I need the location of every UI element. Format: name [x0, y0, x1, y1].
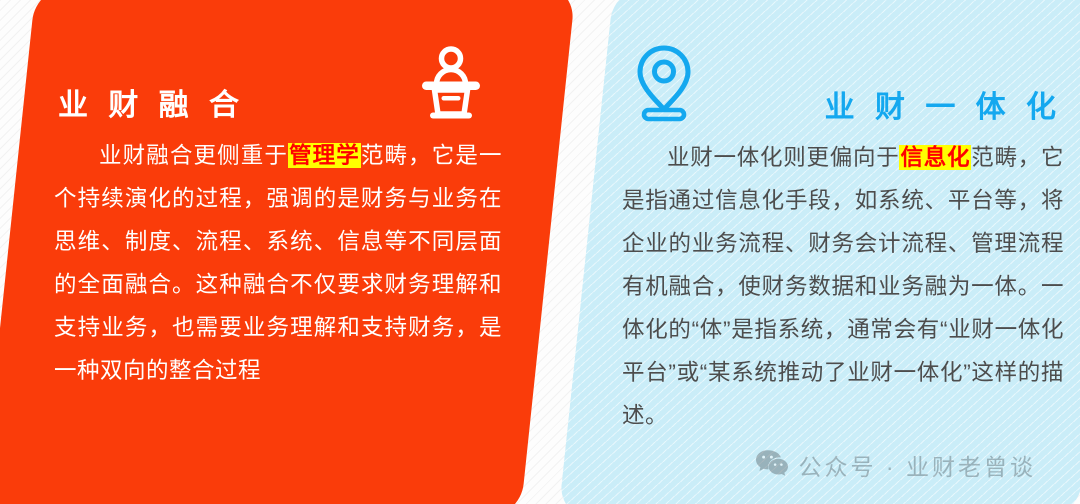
body-text-run-2: 范畴，它是一个持续演化的过程，强调的是财务与业务在思维、制度、流程、系统、信息等…: [54, 143, 502, 383]
body-text-run-0: 业财融合更侧重于: [99, 143, 288, 168]
body-text-run-2: 范畴，它是指通过信息化手段，如系统、平台等，将企业的业务流程、财务会计流程、管理…: [622, 145, 1064, 428]
card-right-surface: 业 财 一 体 化 业财一体化则更偏向于信息化范畴，它是指通过信息化手段，如系统…: [586, 0, 1080, 504]
card-left-title: 业 财 融 合: [58, 80, 245, 124]
card-right-title: 业 财 一 体 化: [825, 82, 1062, 126]
card-ye-cai-yi-ti-hua: 业 财 一 体 化 业财一体化则更偏向于信息化范畴，它是指通过信息化手段，如系统…: [558, 0, 1080, 504]
card-left-content: 业 财 融 合: [8, 0, 548, 504]
card-left-surface: 业 财 融 合: [8, 0, 548, 504]
card-right-content: 业 财 一 体 化 业财一体化则更偏向于信息化范畴，它是指通过信息化手段，如系统…: [586, 0, 1080, 504]
highlighted-term: 管理学: [288, 143, 361, 168]
highlighted-term: 信息化: [899, 145, 971, 170]
watermark: 公众号 · 业财老曾谈: [755, 448, 1036, 482]
poster-canvas: 业 财 融 合: [0, 0, 1080, 504]
card-left-body: 业财融合更侧重于管理学范畴，它是一个持续演化的过程，强调的是财务与业务在思维、制…: [54, 134, 508, 392]
wechat-icon: [755, 449, 789, 482]
watermark-text: 公众号 · 业财老曾谈: [799, 448, 1036, 482]
body-text-run-0: 业财一体化则更偏向于: [667, 145, 899, 170]
location-pin-icon: [626, 39, 702, 125]
card-left-header: 业 财 融 合: [54, 34, 508, 130]
card-ye-cai-rong-he: 业 财 融 合: [0, 0, 576, 504]
podium-speaker-icon: [408, 39, 494, 125]
card-right-header: 业 财 一 体 化: [622, 34, 1064, 130]
card-right-body: 业财一体化则更偏向于信息化范畴，它是指通过信息化手段，如系统、平台等，将企业的业…: [622, 136, 1064, 437]
